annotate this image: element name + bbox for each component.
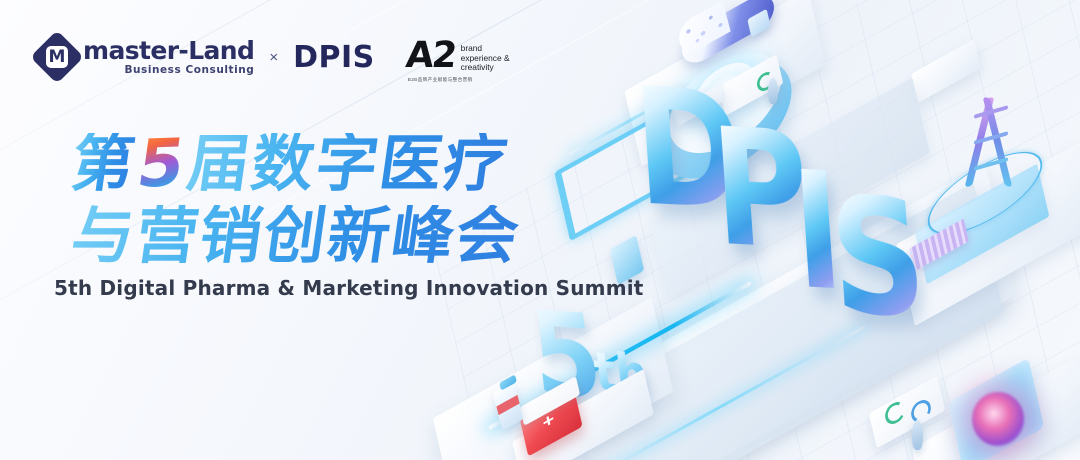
logo-lockup: M master-Land Business Consulting × DPIS… bbox=[38, 38, 510, 76]
masterland-tagline: Business Consulting bbox=[83, 65, 254, 76]
a2-tagline-3: creativity bbox=[461, 63, 510, 73]
headline-subtitle: 5th Digital Pharma & Marketing Innovatio… bbox=[54, 276, 644, 300]
dna-helix bbox=[960, 96, 1020, 188]
logo-separator-icon: × bbox=[267, 49, 280, 66]
a2-logo[interactable]: A2 brand experience & creativity B2B品牌产业… bbox=[406, 41, 510, 74]
hero-dpis-3d: D P I S bbox=[636, 96, 966, 346]
a2-taglines: brand experience & creativity bbox=[461, 41, 510, 74]
headline-line-2: 与营销创新峰会 bbox=[72, 200, 520, 272]
a2-microtext: B2B品牌产业赋能与整合营销 bbox=[408, 77, 473, 83]
headline-suffix: 届数字医疗 bbox=[184, 133, 513, 195]
conference-banner: D P I S 5 th + M bbox=[0, 0, 1080, 460]
a2-mark: A2 bbox=[404, 41, 456, 72]
headline-block: 第 5 届数字医疗 与营销创新峰会 bbox=[72, 128, 520, 272]
dpis-logo[interactable]: DPIS bbox=[293, 40, 375, 75]
hero-letter-s: S bbox=[827, 192, 930, 326]
headline-prefix: 第 bbox=[68, 133, 141, 195]
headline-edition-number: 5 bbox=[133, 130, 189, 198]
masterland-logo[interactable]: M master-Land Business Consulting bbox=[38, 38, 254, 76]
human-figure-bottom bbox=[912, 420, 923, 450]
masterland-name: master-Land bbox=[83, 38, 254, 63]
masterland-diamond-icon: M bbox=[30, 30, 84, 84]
headline-line-1: 第 5 届数字医疗 bbox=[72, 128, 520, 200]
headline-line-2-text: 与营销创新峰会 bbox=[68, 205, 525, 267]
cube-inner-glow bbox=[972, 392, 1024, 446]
masterland-monogram: M bbox=[49, 49, 66, 66]
